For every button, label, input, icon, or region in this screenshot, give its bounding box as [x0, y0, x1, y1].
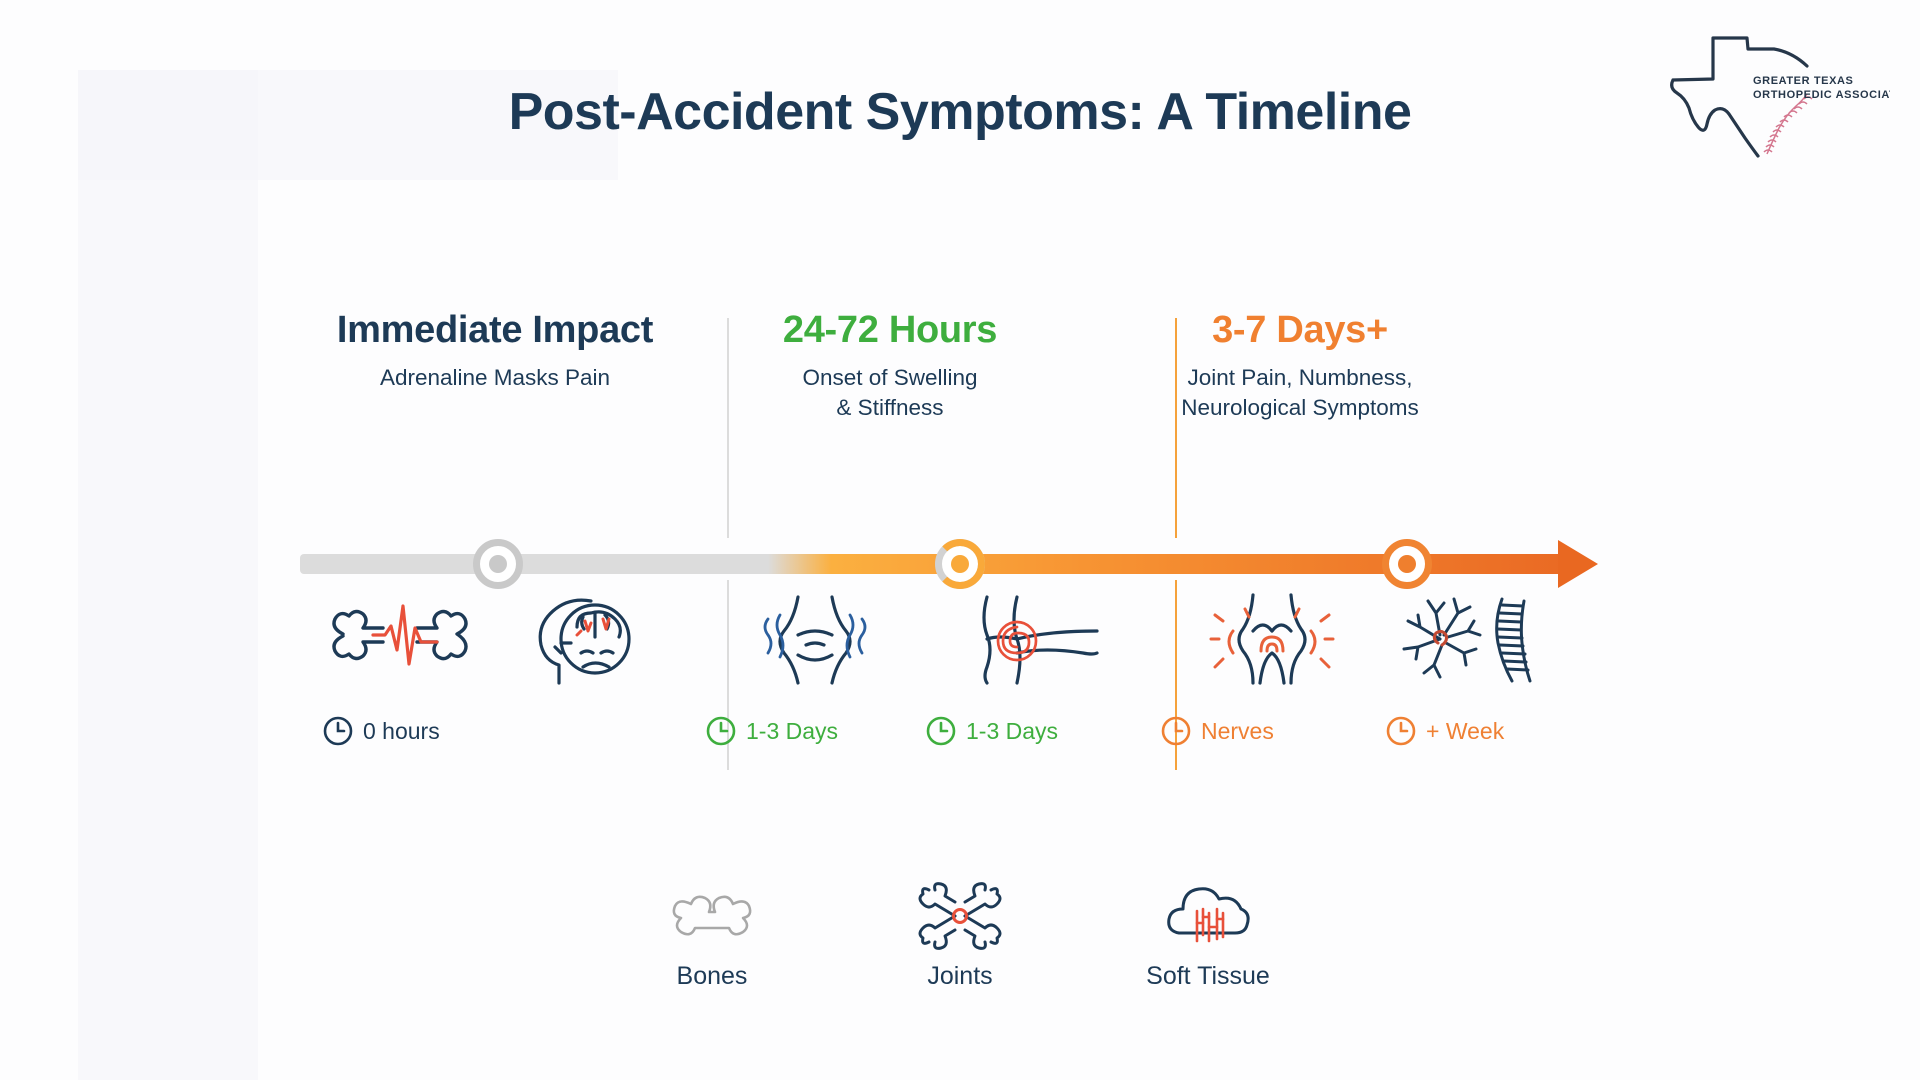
legend: Bones Joints	[0, 880, 1920, 991]
clock-label-row: 0 hours 1-3 Days 1-3 Days Nerves	[300, 715, 1640, 760]
knee-inflammation-icon	[1195, 588, 1345, 688]
phase-subtitle-2: Onset of Swelling & Stiffness	[725, 363, 1055, 423]
phase-subtitle-2-line1: Onset of Swelling	[725, 363, 1055, 393]
legend-label: Joints	[875, 962, 1045, 991]
phase-headers: Immediate Impact Adrenaline Masks Pain 2…	[300, 310, 1640, 510]
phase-24-72-hours: 24-72 Hours Onset of Swelling & Stiffnes…	[725, 310, 1055, 423]
phase-3-7-days: 3-7 Days+ Joint Pain, Numbness, Neurolog…	[1090, 310, 1510, 423]
legend-item-soft-tissue: Soft Tissue	[1123, 880, 1293, 991]
legend-label: Soft Tissue	[1123, 962, 1293, 991]
timeline-node-immediate[interactable]	[473, 539, 523, 589]
phase-title-1: Immediate Impact	[300, 310, 690, 352]
phase-subtitle-1: Adrenaline Masks Pain	[300, 363, 690, 393]
bone-fracture-icon	[325, 588, 475, 688]
nerve-spine-icon	[1390, 588, 1540, 688]
soft-tissue-cloud-icon	[1123, 880, 1293, 952]
clock-label-text: + Week	[1426, 718, 1504, 745]
clock-label-text: 0 hours	[363, 718, 440, 745]
timeline-bar	[300, 536, 1640, 592]
node-dot	[489, 555, 507, 573]
head-brain-pain-icon	[505, 588, 655, 688]
clock-icon	[1385, 715, 1417, 747]
timeline-node-3-7-days[interactable]	[1382, 539, 1432, 589]
clock-label-text: 1-3 Days	[746, 718, 838, 745]
clock-label-1-3-days-b: 1-3 Days	[925, 715, 1058, 747]
node-dot	[1398, 555, 1416, 573]
divider-1-top	[727, 318, 729, 538]
phase-subtitle-3: Joint Pain, Numbness, Neurological Sympt…	[1090, 363, 1510, 423]
clock-label-text: 1-3 Days	[966, 718, 1058, 745]
clock-label-text: Nerves	[1201, 718, 1274, 745]
clock-label-0-hours: 0 hours	[322, 715, 440, 747]
clock-icon	[925, 715, 957, 747]
bone-icon	[627, 880, 797, 952]
legend-item-joints: Joints	[875, 880, 1045, 991]
clock-label-nerves: Nerves	[1160, 715, 1274, 747]
clock-label-1-3-days-a: 1-3 Days	[705, 715, 838, 747]
phase-title-2: 24-72 Hours	[725, 310, 1055, 352]
clock-icon	[322, 715, 354, 747]
legend-label: Bones	[627, 962, 797, 991]
page-title: Post-Accident Symptoms: A Timeline	[0, 82, 1920, 142]
crossed-bones-icon	[875, 880, 1045, 952]
elbow-pain-icon	[960, 588, 1110, 688]
phase-subtitle-3-line2: Neurological Symptoms	[1090, 393, 1510, 423]
symptom-icon-row	[300, 588, 1640, 698]
infographic-stage: GREATER TEXAS ORTHOPEDIC ASSOCIATES Post…	[0, 0, 1920, 1080]
phase-subtitle-2-line2: & Stiffness	[725, 393, 1055, 423]
legend-item-bones: Bones	[627, 880, 797, 991]
phase-subtitle-3-line1: Joint Pain, Numbness,	[1090, 363, 1510, 393]
timeline-arrow-icon	[1558, 540, 1598, 588]
clock-label-plus-week: + Week	[1385, 715, 1504, 747]
swollen-joint-icon	[740, 588, 890, 688]
phase-title-3: 3-7 Days+	[1090, 310, 1510, 352]
clock-icon	[705, 715, 737, 747]
clock-icon	[1160, 715, 1192, 747]
timeline-node-24-72-hours[interactable]	[935, 539, 985, 589]
node-dot	[951, 555, 969, 573]
divider-2-top	[1175, 318, 1177, 538]
phase-immediate-impact: Immediate Impact Adrenaline Masks Pain	[300, 310, 690, 393]
